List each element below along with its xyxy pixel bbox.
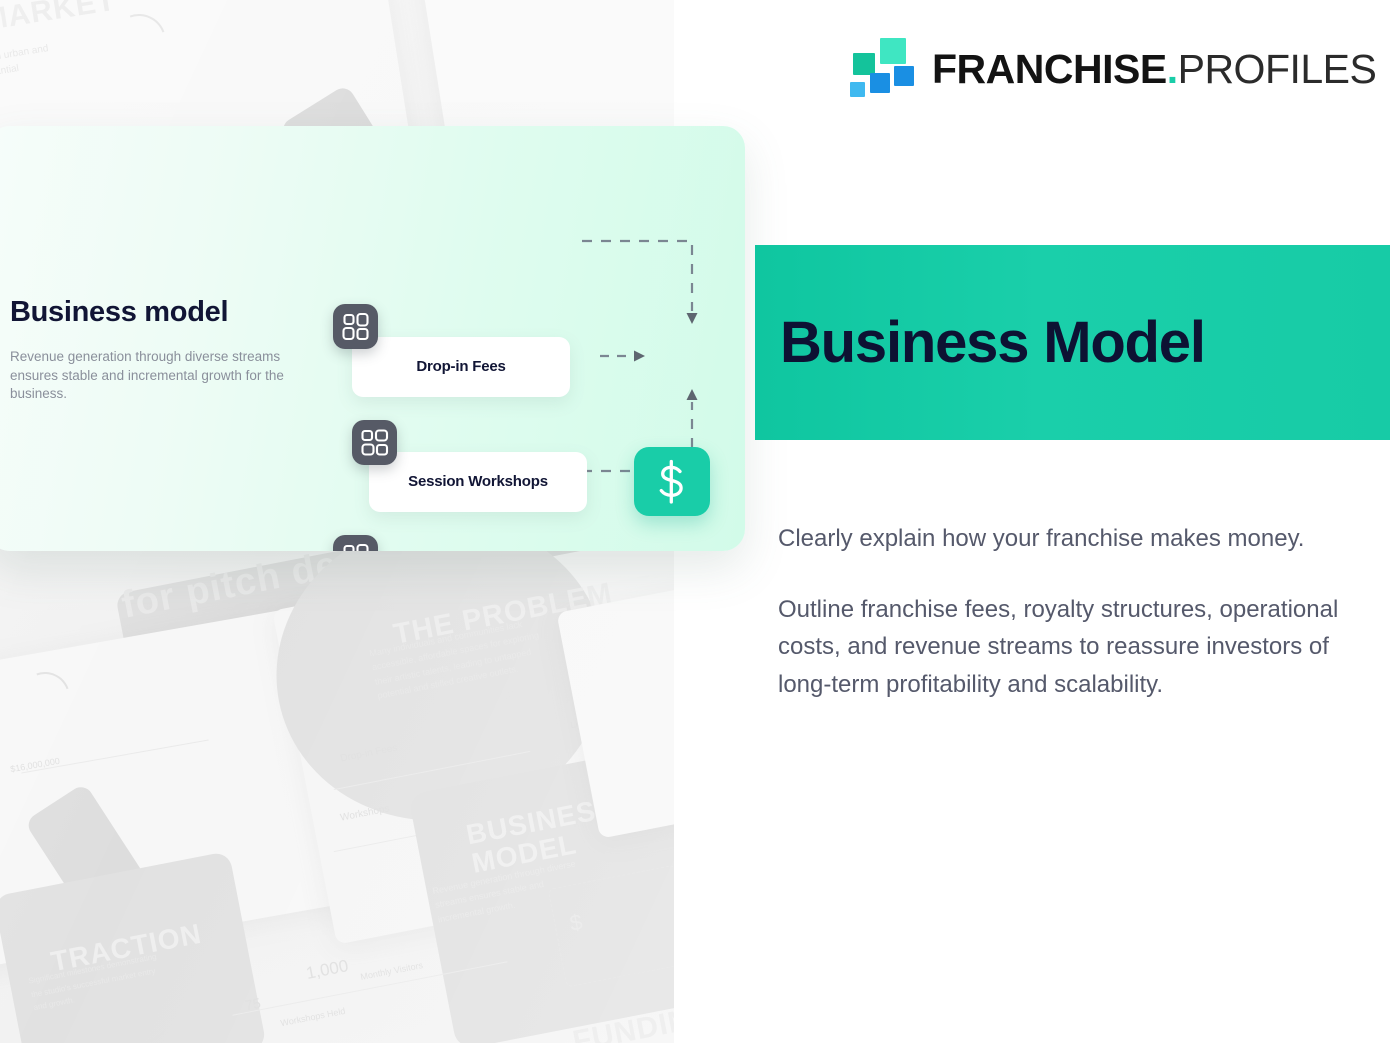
- logo-dot: .: [1167, 46, 1178, 92]
- node-label: Drop-in Fees: [416, 358, 505, 377]
- description-body: Clearly explain how your franchise makes…: [778, 520, 1353, 703]
- logo-mark-icon: [850, 38, 910, 100]
- logo-wordmark: FRANCHISE.PROFILES: [932, 49, 1376, 90]
- logo-word-secondary: PROFILES: [1178, 46, 1377, 92]
- node-label: Session Workshops: [408, 473, 548, 492]
- card-subtitle: Revenue generation through diverse strea…: [10, 348, 310, 404]
- page-title: Business Model: [780, 309, 1205, 376]
- franchise-profiles-logo[interactable]: FRANCHISE.PROFILES: [850, 38, 1376, 100]
- card-title: Business model: [10, 296, 228, 329]
- dashboard-grid-icon: [352, 420, 397, 465]
- business-model-slide-card: Business model Revenue generation throug…: [0, 126, 745, 551]
- collage-fragment: Workshops Held: [280, 1006, 347, 1028]
- revenue-node-drop-in-fees[interactable]: Drop-in Fees: [352, 337, 570, 397]
- dashboard-grid-icon: [333, 535, 378, 551]
- logo-word-primary: FRANCHISE: [932, 46, 1167, 92]
- section-banner: Business Model: [755, 245, 1390, 440]
- description-paragraph: Outline franchise fees, royalty structur…: [778, 591, 1353, 703]
- collage-fragment: 1,000: [304, 956, 350, 984]
- description-paragraph: Clearly explain how your franchise makes…: [778, 520, 1353, 557]
- dashboard-grid-icon: [333, 304, 378, 349]
- revenue-node-session-workshops[interactable]: Session Workshops: [369, 452, 587, 512]
- dollar-sign-icon[interactable]: [634, 447, 710, 516]
